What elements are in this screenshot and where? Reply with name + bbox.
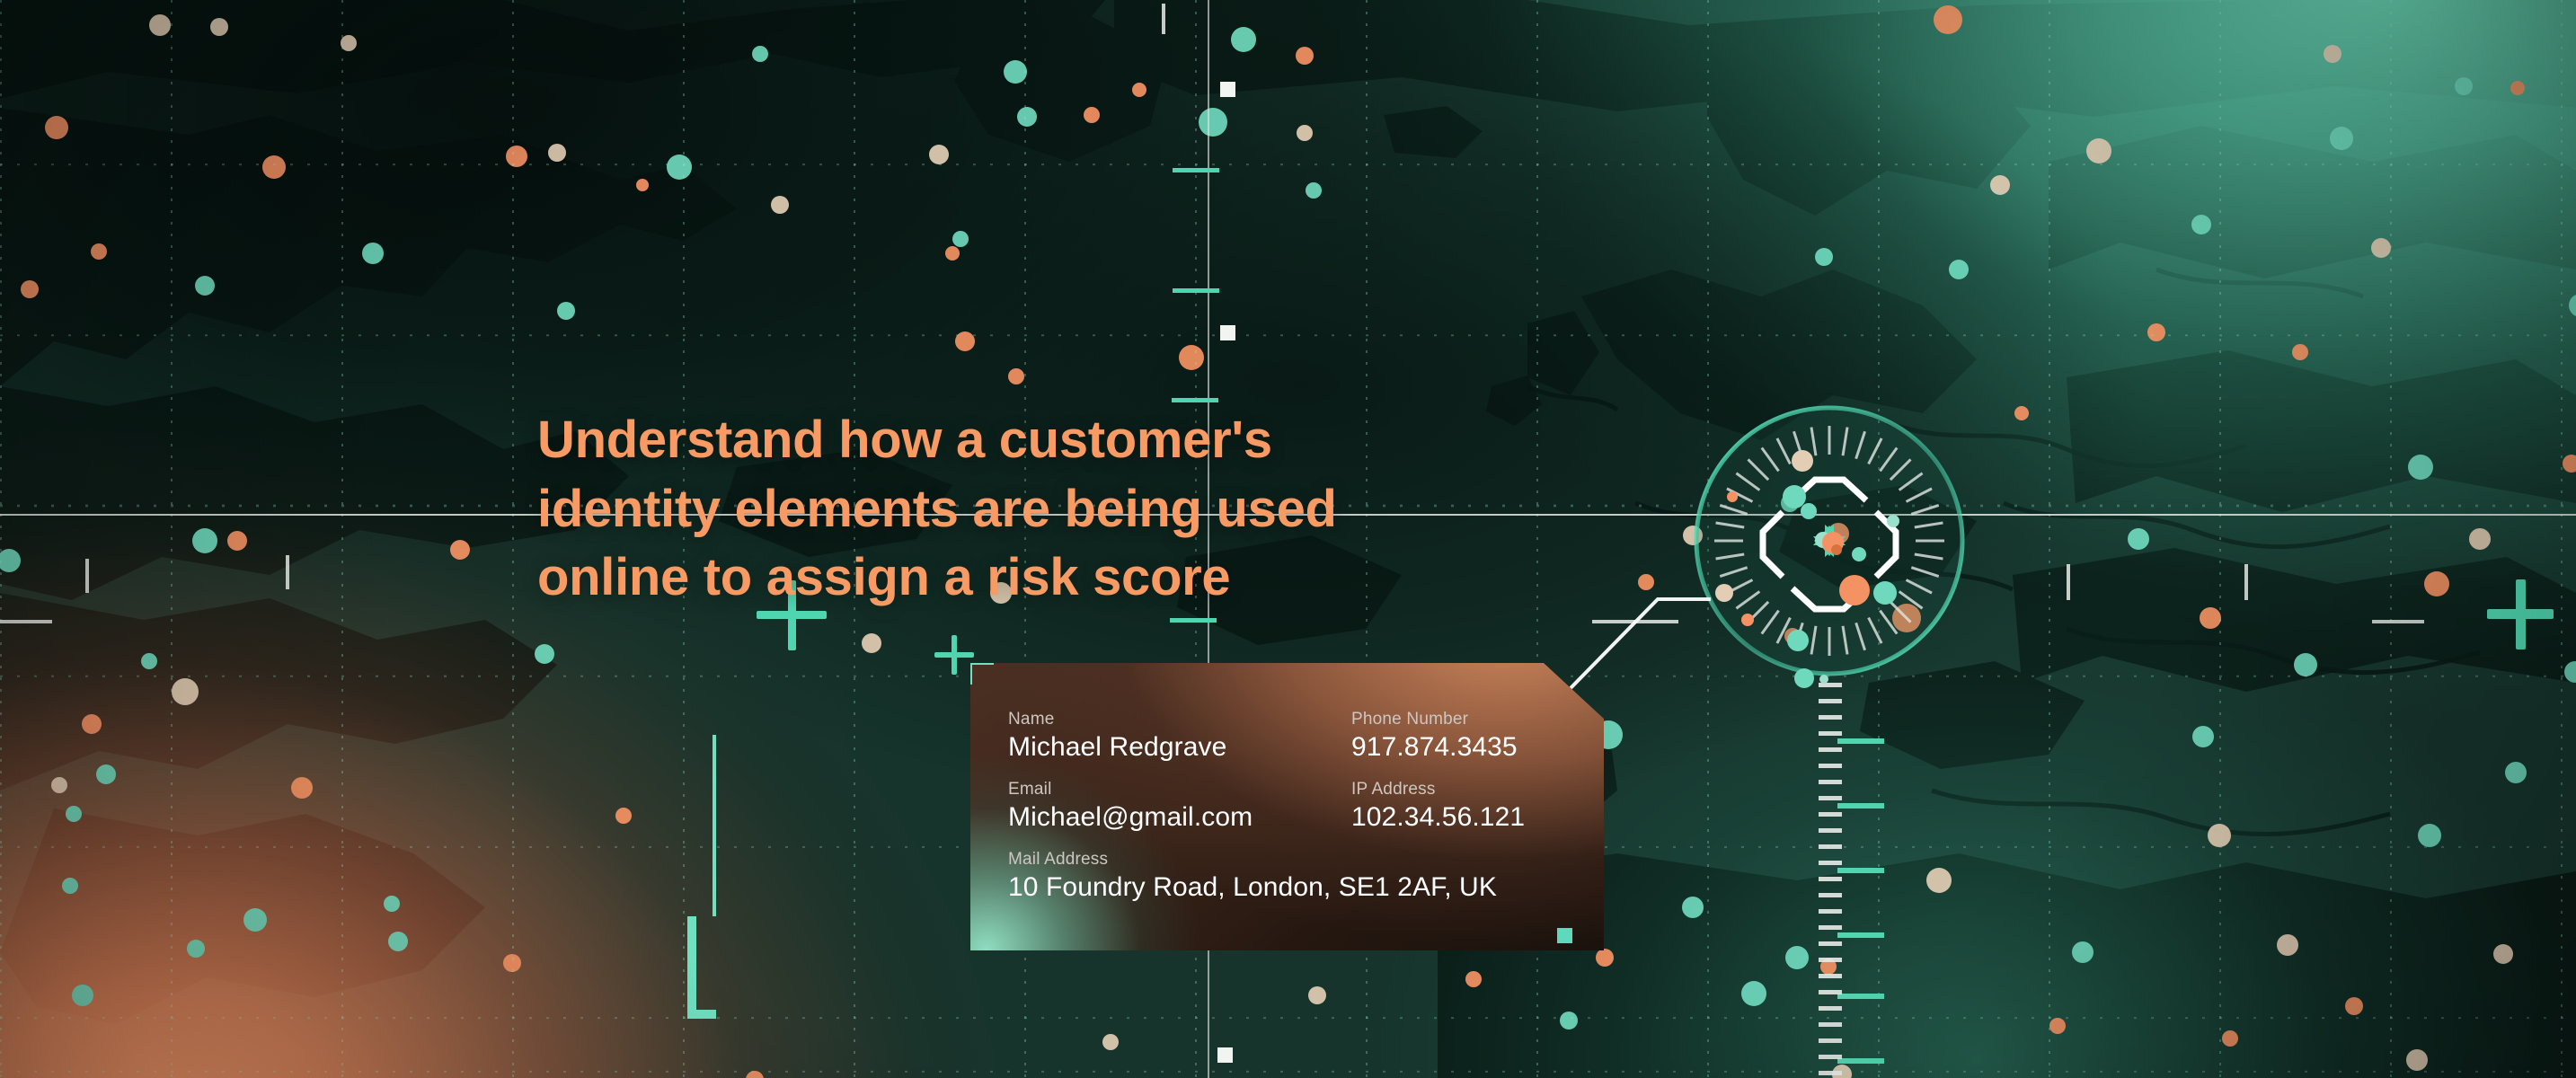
vignette-overlay: [0, 0, 2576, 1078]
hero-banner: Understand how a customer's identity ele…: [0, 0, 2576, 1078]
